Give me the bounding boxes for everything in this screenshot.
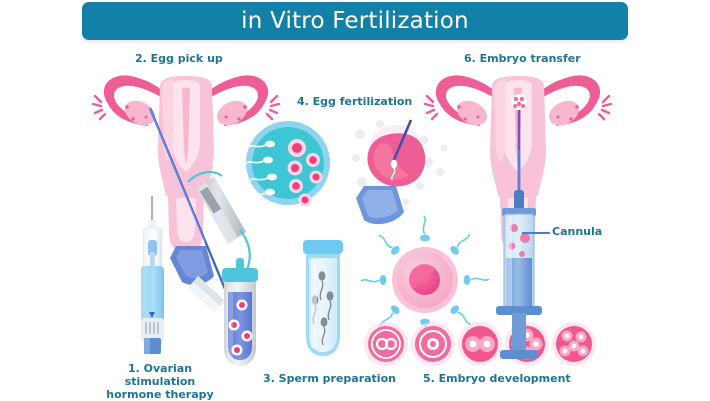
implanted-embryo (511, 94, 527, 110)
injected-sperm (391, 160, 397, 180)
embryo-transfer-syringe-illustration (496, 190, 542, 359)
step-4-label: 4. Egg fertilization (297, 95, 412, 108)
step-6-label: 6. Embryo transfer (464, 52, 581, 65)
infographic-canvas: in Vitro Fertilization (0, 0, 710, 400)
embryo-stage-5 (552, 322, 596, 366)
hormone-injection-pen-illustration (141, 196, 164, 354)
step-1-label: 1. Ovarian stimulation hormone therapy (100, 362, 220, 401)
sperm-sample-tube-illustration (303, 240, 343, 356)
step-3-label: 3. Sperm preparation (263, 372, 396, 385)
embryo-stage-4 (505, 322, 549, 366)
step-5-label: 5. Embryo development (423, 372, 571, 385)
fertilized-egg-illustration (361, 216, 489, 344)
background-dots (352, 120, 448, 206)
collected-eggs (229, 300, 253, 356)
embryo-development-illustration (364, 322, 596, 366)
surrounding-sperm (361, 216, 489, 344)
dish-eggs (288, 139, 323, 207)
tube-sperm (312, 271, 334, 345)
dish-sperm (246, 141, 277, 196)
egg-collection-tube-illustration (222, 258, 258, 366)
ultrasound-probe-illustration (188, 172, 250, 282)
cannula-leader-line (522, 232, 550, 234)
page-title-banner: in Vitro Fertilization (82, 2, 628, 40)
cannula-label: Cannula (552, 225, 602, 238)
petri-dish-illustration (246, 121, 330, 207)
embryo-stage-3 (458, 322, 502, 366)
embryo-stage-2 (411, 322, 455, 366)
icsi-illustration (352, 120, 448, 224)
embryo-stage-1 (364, 322, 408, 366)
uterus-egg-pickup-illustration (93, 75, 279, 330)
page-title: in Vitro Fertilization (241, 8, 469, 34)
step-2-label: 2. Egg pick up (135, 52, 223, 65)
illustration-layer (0, 0, 710, 400)
syringe-embryos (509, 224, 530, 257)
